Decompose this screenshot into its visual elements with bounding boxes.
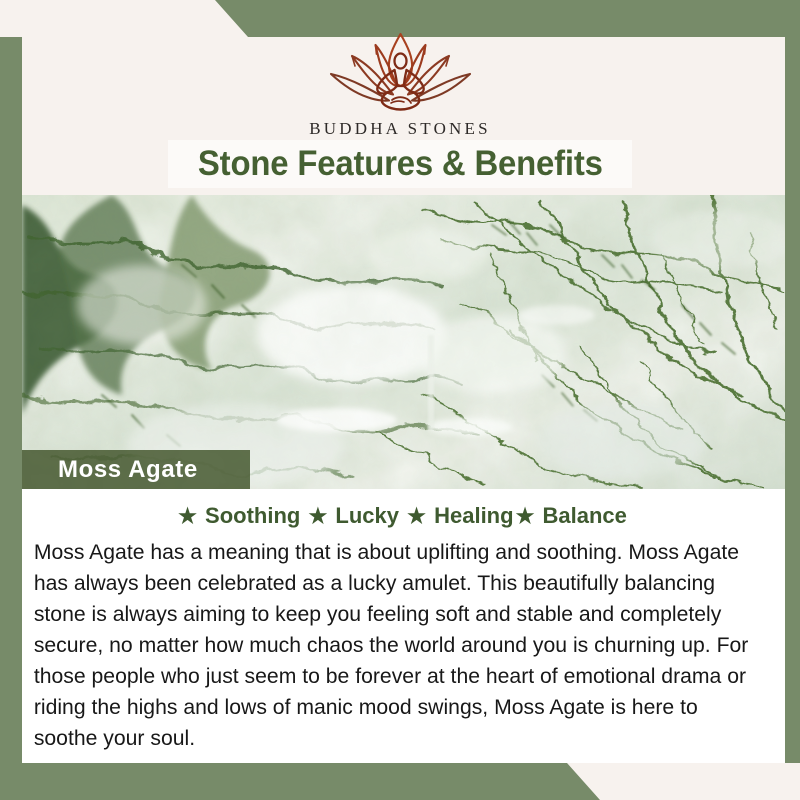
- star-icon: ★: [407, 505, 426, 528]
- keyword-soothing: Soothing: [205, 503, 300, 528]
- brand-logo-block: BUDDHA STONES: [0, 30, 800, 139]
- moss-agate-photo: [22, 195, 785, 489]
- stone-name-bar: Moss Agate: [22, 450, 250, 489]
- moss-agate-texture: [22, 195, 785, 489]
- keyword-balance: Balance: [543, 503, 627, 528]
- page-title: Stone Features & Benefits: [198, 144, 603, 184]
- brand-name: BUDDHA STONES: [309, 119, 491, 139]
- content-panel: ★ Soothing ★ Lucky ★ Healing★ Balance Mo…: [22, 489, 785, 763]
- right-green-rail: [785, 37, 800, 763]
- poster-root: BUDDHA STONES Stone Features & Benefits: [0, 0, 800, 800]
- lotus-meditation-icon: [313, 30, 488, 115]
- stone-description: Moss Agate has a meaning that is about u…: [22, 529, 774, 754]
- title-band: Stone Features & Benefits: [168, 140, 632, 188]
- star-icon: ★: [308, 505, 327, 528]
- stone-name-label: Moss Agate: [58, 456, 198, 484]
- star-icon: ★: [178, 505, 197, 528]
- keyword-lucky: Lucky: [335, 503, 399, 528]
- keyword-list: ★ Soothing ★ Lucky ★ Healing★ Balance: [22, 489, 785, 529]
- star-icon: ★: [516, 505, 535, 528]
- keyword-healing: Healing: [434, 503, 513, 528]
- left-green-rail: [0, 37, 22, 763]
